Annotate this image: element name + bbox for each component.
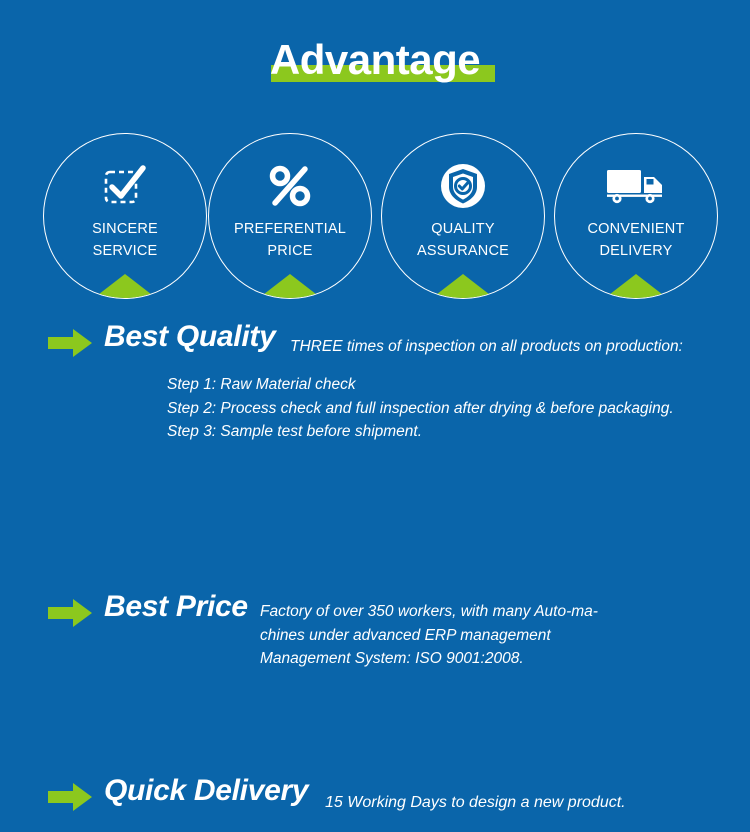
feature-detail-line: Step 3: Sample test before shipment.	[167, 420, 674, 444]
badge-green-triangle	[419, 274, 507, 299]
feature-detail-line: Factory of over 350 workers, with many A…	[260, 600, 598, 624]
badge-preferential-price: PREFERENTIAL PRICE	[208, 133, 372, 299]
badge-green-triangle	[246, 274, 334, 299]
checkbox-check-icon	[44, 158, 206, 214]
feature-heading: Best Quality	[104, 320, 275, 354]
feature-best-price: Best Price Factory of over 350 workers, …	[0, 598, 750, 688]
badge-label-line2: SERVICE	[44, 240, 206, 262]
badge-label-line1: PREFERENTIAL	[209, 218, 371, 240]
page-title: Advantage	[0, 30, 750, 90]
badge-label: SINCERE SERVICE	[44, 218, 206, 262]
badge-label: QUALITY ASSURANCE	[382, 218, 544, 262]
feature-detail-lines: Factory of over 350 workers, with many A…	[260, 600, 598, 671]
advantage-badge-row: SINCERE SERVICE PREFERENTIAL PRICE	[0, 133, 750, 301]
badge-label: PREFERENTIAL PRICE	[209, 218, 371, 262]
page-title-block: Advantage	[0, 30, 750, 100]
badge-green-triangle	[81, 274, 169, 299]
badge-convenient-delivery: CONVENIENT DELIVERY	[554, 133, 718, 299]
feature-best-quality: Best Quality THREE times of inspection o…	[0, 328, 750, 458]
feature-detail-line: Step 2: Process check and full inspectio…	[167, 397, 674, 421]
feature-detail-line: Step 1: Raw Material check	[167, 373, 674, 397]
badge-label-line1: SINCERE	[44, 218, 206, 240]
badge-sincere-service: SINCERE SERVICE	[43, 133, 207, 299]
feature-lead-text: THREE times of inspection on all product…	[290, 338, 683, 356]
badge-label: CONVENIENT DELIVERY	[555, 218, 717, 262]
feature-detail-line: chines under advanced ERP management	[260, 624, 598, 648]
badge-label-line2: ASSURANCE	[382, 240, 544, 262]
badge-label-line2: DELIVERY	[555, 240, 717, 262]
green-arrow-icon	[47, 598, 93, 628]
green-arrow-icon	[47, 328, 93, 358]
badge-green-triangle	[592, 274, 680, 299]
green-arrow-icon	[47, 782, 93, 812]
feature-detail-line: Management System: ISO 9001:2008.	[260, 647, 598, 671]
badge-label-line2: PRICE	[209, 240, 371, 262]
feature-detail-lines: Step 1: Raw Material check Step 2: Proce…	[167, 373, 674, 444]
advantage-banner: Advantage SINCERE SERVICE	[0, 0, 750, 650]
badge-label-line1: QUALITY	[382, 218, 544, 240]
feature-heading: Quick Delivery	[104, 774, 308, 808]
feature-quick-delivery: Quick Delivery 15 Working Days to design…	[0, 782, 750, 832]
delivery-truck-icon	[555, 158, 717, 214]
feature-lead-text: 15 Working Days to design a new product.	[325, 794, 626, 812]
feature-heading: Best Price	[104, 590, 248, 624]
badge-quality-assurance: QUALITY ASSURANCE	[381, 133, 545, 299]
percent-icon	[209, 158, 371, 214]
badge-label-line1: CONVENIENT	[555, 218, 717, 240]
feature-list: Best Quality THREE times of inspection o…	[0, 328, 750, 598]
shield-check-icon	[382, 158, 544, 214]
